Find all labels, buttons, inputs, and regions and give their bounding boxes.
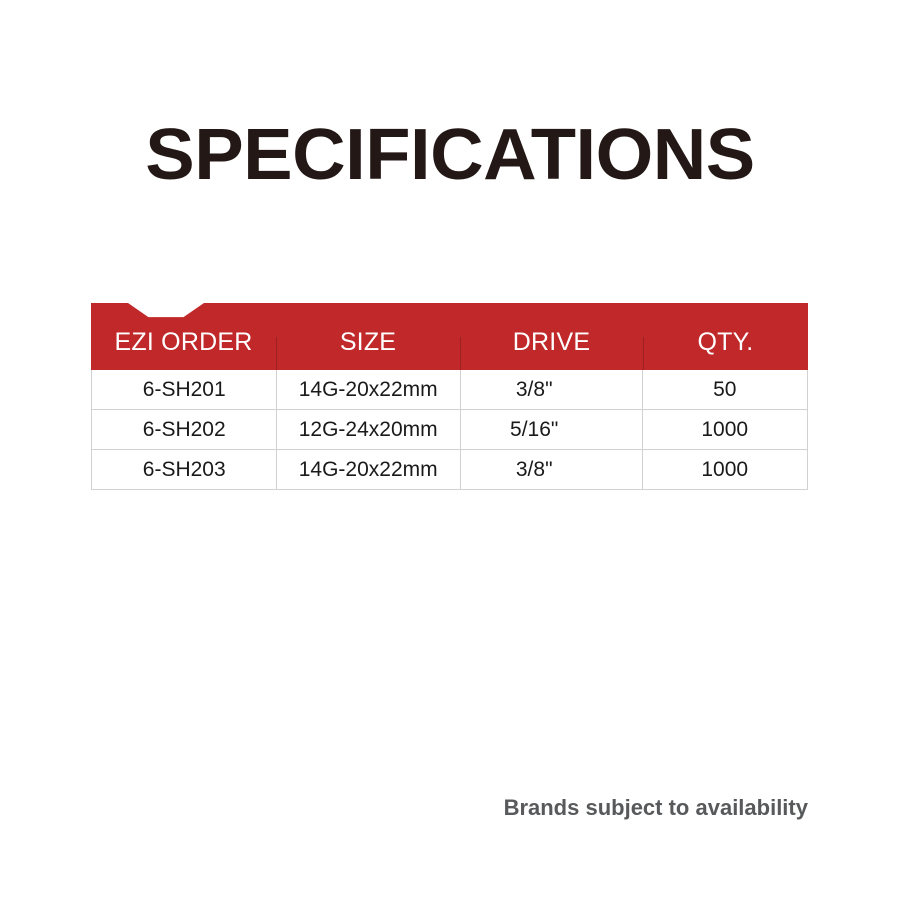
cell-drive: 3/8"	[460, 370, 643, 409]
cell-ezi-order: 6-SH202	[92, 410, 276, 449]
availability-note: Brands subject to availability	[0, 793, 808, 823]
cell-ezi-order: 6-SH201	[92, 370, 276, 409]
table-row: 6-SH201 14G-20x22mm 3/8" 50	[92, 370, 807, 410]
cell-qty: 1000	[642, 450, 807, 489]
cell-drive: 3/8"	[460, 450, 643, 489]
table-body: 6-SH201 14G-20x22mm 3/8" 50 6-SH202 12G-…	[91, 370, 808, 490]
cell-ezi-order: 6-SH203	[92, 450, 276, 489]
column-header-qty: QTY.	[643, 329, 808, 370]
table-row: 6-SH202 12G-24x20mm 5/16" 1000	[92, 410, 807, 450]
column-header-ezi-order: EZI ORDER	[91, 329, 276, 370]
column-header-size: SIZE	[276, 329, 460, 370]
cell-qty: 1000	[642, 410, 807, 449]
specifications-table: EZI ORDER SIZE DRIVE QTY. 6-SH201 14G-20…	[91, 303, 808, 490]
cell-size: 12G-24x20mm	[276, 410, 459, 449]
table-header-row: EZI ORDER SIZE DRIVE QTY.	[91, 303, 808, 370]
cell-size: 14G-20x22mm	[276, 370, 459, 409]
cell-size: 14G-20x22mm	[276, 450, 459, 489]
table-row: 6-SH203 14G-20x22mm 3/8" 1000	[92, 450, 807, 489]
specifications-page: SPECIFICATIONS EZI ORDER SIZE DRIVE QTY.…	[0, 0, 900, 900]
page-title: SPECIFICATIONS	[0, 112, 900, 198]
cell-drive: 5/16"	[460, 410, 643, 449]
column-header-drive: DRIVE	[460, 329, 643, 370]
cell-qty: 50	[642, 370, 807, 409]
